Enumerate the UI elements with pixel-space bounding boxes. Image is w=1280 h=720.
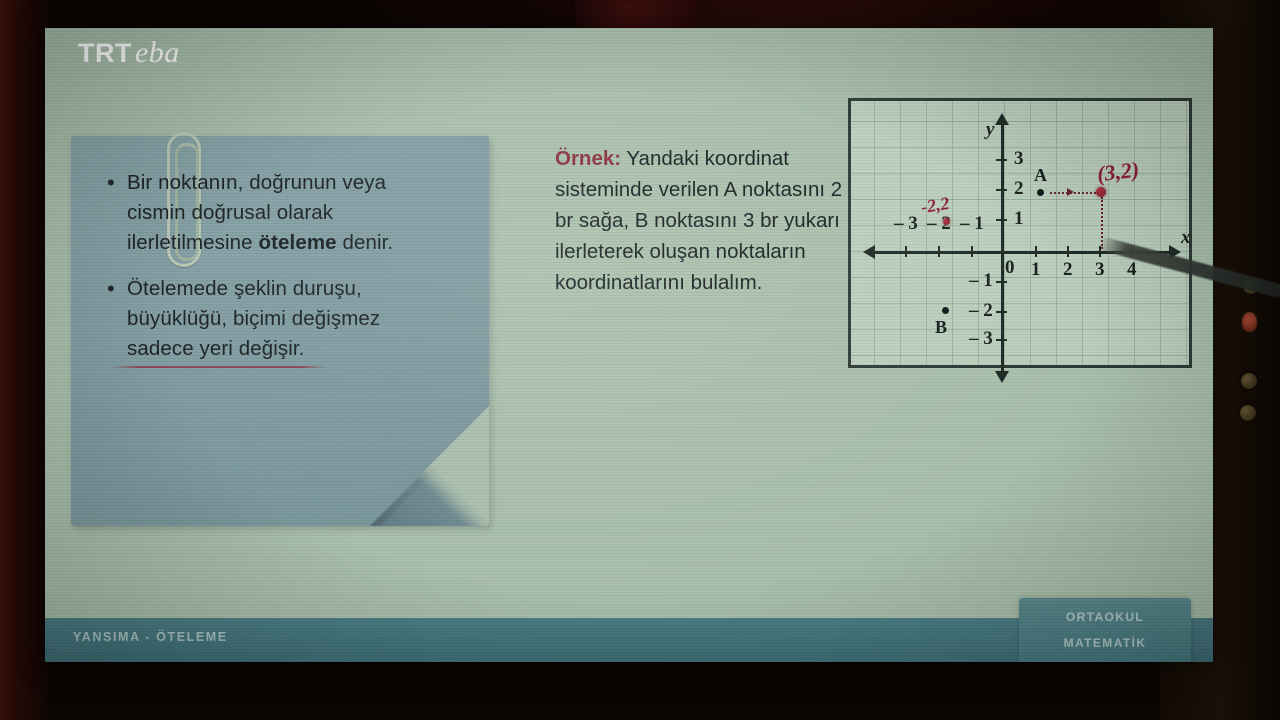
x-axis-arrow-left: [863, 245, 875, 259]
x-tick--1: [971, 246, 973, 257]
bullet-text-2: Ötelemede şeklin duruşu, büyüklüğü, biçi…: [127, 274, 437, 364]
y-ticklabel--1: – 1: [969, 270, 993, 292]
y-axis-arrow-up: [995, 113, 1009, 125]
y-ticklabel-3: 3: [1014, 148, 1024, 170]
left-wall: [0, 0, 48, 720]
x-tick--3: [905, 246, 907, 257]
translated-point-A-label: (3,2): [1096, 157, 1141, 188]
badge-subject-label: MATEMATİK: [1019, 636, 1191, 650]
bullet-marker: •: [107, 168, 127, 198]
x-ticklabel-2: 2: [1063, 259, 1073, 281]
x-tick-1: [1035, 246, 1037, 257]
coordinate-plane-figure: x y – 3 – 2 – 1 0 1 2 3 4 3: [848, 98, 1192, 368]
point-B-label: B: [935, 317, 947, 338]
badge-level-label: ORTAOKUL: [1019, 610, 1191, 624]
x-ticklabel-1: 1: [1031, 259, 1041, 281]
bullet-list: • Bir noktanın, doğrunun veya cismin doğ…: [107, 168, 437, 380]
y-ticklabel-2: 2: [1014, 178, 1024, 200]
classroom-background: TRTeba • Bir noktanın, doğrunun veya cis…: [0, 0, 1280, 720]
trt-eba-logo: TRTeba: [78, 36, 180, 70]
y-tick--1: [996, 281, 1007, 283]
translated-point-B-dot: [943, 218, 950, 225]
translated-point-A-dot: [1096, 187, 1106, 197]
y-ticklabel--3: – 3: [969, 328, 993, 350]
y-ticklabel--2: – 2: [969, 300, 993, 322]
point-A: [1037, 189, 1044, 196]
subject-badge: ORTAOKUL MATEMATİK: [1019, 598, 1191, 662]
x-axis-label: x: [1181, 227, 1191, 249]
x-ticklabel-3: 3: [1095, 259, 1105, 281]
translated-point-B-label: -2,2: [920, 193, 951, 218]
x-ticklabel--1: – 1: [960, 213, 984, 235]
y-ticklabel-1: 1: [1014, 208, 1024, 230]
point-B: [942, 307, 949, 314]
logo-trt-text: TRT: [78, 38, 132, 68]
wall-control-icon-2: [1241, 373, 1257, 389]
logo-eba-text: eba: [135, 36, 180, 69]
bullet-text-1: Bir noktanın, doğrunun veya cismin doğru…: [127, 168, 437, 258]
projected-slide: TRTeba • Bir noktanın, doğrunun veya cis…: [45, 28, 1213, 662]
x-ticklabel-0: 0: [1005, 257, 1015, 279]
wall-marker-blob: [1242, 312, 1257, 332]
list-item: • Bir noktanın, doğrunun veya cismin doğ…: [107, 168, 437, 258]
translation-arrow-icon: [1067, 188, 1074, 196]
x-ticklabel--3: – 3: [894, 213, 918, 235]
y-axis-label: y: [986, 119, 994, 141]
y-tick-1: [996, 219, 1007, 221]
example-label: Örnek:: [555, 147, 621, 170]
x-tick--2: [938, 246, 940, 257]
page-curl-corner: [369, 406, 489, 526]
point-A-label: A: [1034, 165, 1047, 186]
x-tick-2: [1067, 246, 1069, 257]
wall-control-icon-3: [1240, 405, 1256, 421]
y-tick-2: [996, 189, 1007, 191]
x-ticklabel-4: 4: [1127, 259, 1137, 281]
footer-topic-label: YANSIMA - ÖTELEME: [73, 630, 228, 644]
example-paragraph: Örnek: Yandaki koordinat sisteminde veri…: [555, 143, 845, 298]
bullet-marker: •: [107, 274, 127, 304]
y-tick--2: [996, 311, 1007, 313]
y-tick-3: [996, 159, 1007, 161]
y-axis-arrow-down: [995, 371, 1009, 383]
y-tick--3: [996, 339, 1007, 341]
red-underline: [111, 366, 326, 368]
list-item: • Ötelemede şeklin duruşu, büyüklüğü, bi…: [107, 274, 437, 364]
